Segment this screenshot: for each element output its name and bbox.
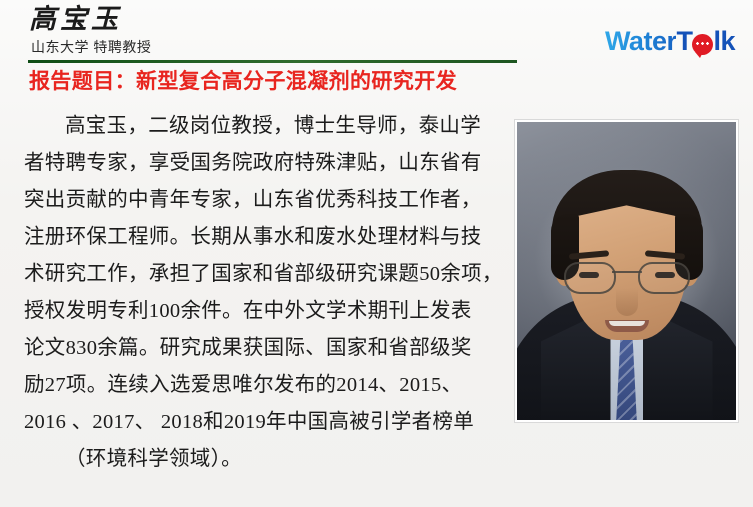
watertalk-logo[interactable]: WaterTlk <box>605 28 735 55</box>
bio-line: 突出贡献的中青年专家，山东省优秀科技工作者， <box>24 182 492 219</box>
speaker-portrait-photo <box>517 122 736 420</box>
bio-line: 高宝玉，二级岗位教授，博士生导师，泰山学 <box>24 108 492 145</box>
bio-line: （环境科学领域）。 <box>24 441 492 478</box>
talk-title: 报告题目：新型复合高分子混凝剂的研究开发 <box>29 70 457 93</box>
speech-bubble-icon <box>692 34 713 55</box>
bio-line: 授权发明专利100余件。在中外文学术期刊上发表 <box>24 293 492 330</box>
bio-line: 2016 、2017、 2018和2019年中国高被引学者榜单 <box>24 404 492 441</box>
speaker-photo-frame <box>515 120 738 422</box>
bio-line: 论文830余篇。研究成果获国际、国家和省部级奖 <box>24 330 492 367</box>
mouth-shape <box>605 320 649 332</box>
slide-header: 高宝玉 山东大学 特聘教授 WaterTlk <box>0 0 753 66</box>
header-divider <box>28 60 517 63</box>
bio-line: 者特聘专家，享受国务院政府特殊津贴，山东省有 <box>24 145 492 182</box>
bio-line: 术研究工作，承担了国家和省部级研究课题50余项， <box>24 256 492 293</box>
logo-text-t: T <box>676 28 692 55</box>
speaker-affiliation: 山东大学 特聘教授 <box>31 40 151 54</box>
logo-text-lk: lk <box>713 28 735 55</box>
nose-shape <box>616 288 638 316</box>
speaker-bio: 高宝玉，二级岗位教授，博士生导师，泰山学 者特聘专家，享受国务院政府特殊津贴，山… <box>24 108 492 478</box>
speaker-name: 高宝玉 <box>29 6 122 33</box>
lens-left <box>564 262 616 294</box>
slide-canvas: 高宝玉 山东大学 特聘教授 WaterTlk 报告题目：新型复合高分子混凝剂的研… <box>0 0 753 507</box>
bio-line: 注册环保工程师。长期从事水和废水处理材料与技 <box>24 219 492 256</box>
logo-text-water: Water <box>605 28 677 55</box>
lens-right <box>638 262 690 294</box>
bio-line: 励27项。连续入选爱思唯尔发布的2014、2015、 <box>24 367 492 404</box>
